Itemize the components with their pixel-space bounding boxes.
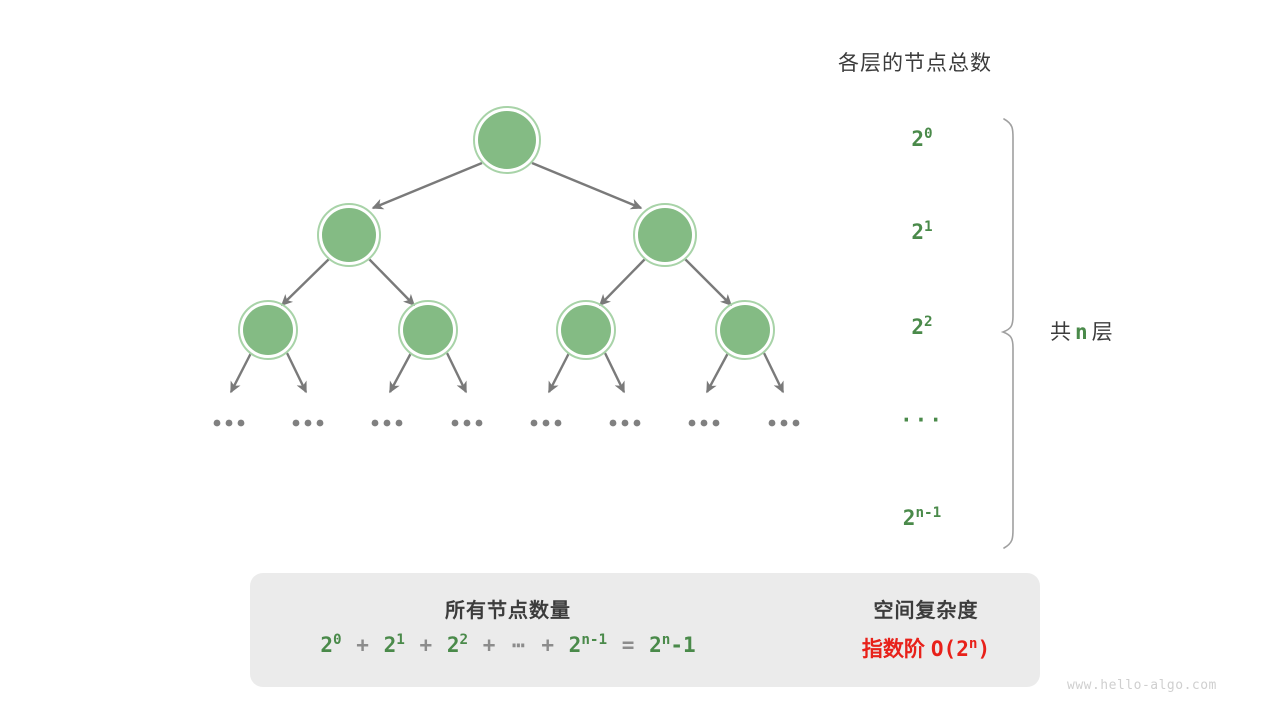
formula-term-8-exp: n-1 [581,632,607,648]
total-levels-suffix: 层 [1092,321,1114,344]
total-levels-prefix: 共 [1050,321,1072,344]
summary-right-title: 空间复杂度 [826,594,1026,623]
diagram-canvas: 各层的节点总数 20 21 22 ··· 2n-1 共n层 所有节点数量 20 … [0,0,1280,720]
tree-nodes [239,107,774,359]
level-label-2: 22 [862,315,982,339]
formula-term-10: 2n-1 [649,633,696,657]
summary-right-value: 指数阶O(2n) [826,633,1026,663]
level-label-1-base: 2 [911,220,924,244]
edge-l3a-left [231,353,251,392]
ellipsis-group [531,420,562,427]
formula-term-4-base: 2 [447,633,460,657]
level-label-0-exp: 0 [924,126,933,142]
edge-l2a-right [369,259,414,305]
formula-term-4-exp: 2 [459,632,468,648]
complexity-expression: O(2n) [925,637,990,661]
summary-left-title: 所有节点数量 [250,594,766,623]
total-levels-variable: n [1072,320,1092,344]
edge-l3b-right [447,353,466,392]
formula-op-3: + [418,633,435,657]
summary-formula: 20 + 21 + 22 + ⋯ + 2n-1 = 2n-1 [250,633,766,657]
formula-term-10-base: 2 [649,633,662,657]
formula-term-2-exp: 1 [396,632,405,648]
edge-l3c-left [549,353,569,392]
tree-node-l3-4 [716,301,774,359]
edge-l3d-right [764,353,783,392]
formula-term-2: 21 [384,633,405,657]
formula-op-5: + [481,633,498,657]
level-label-1: 21 [862,220,982,244]
level-label-last-exp: n-1 [915,505,941,521]
level-label-1-exp: 1 [924,219,933,235]
tree-ellipsis-row [214,420,800,427]
level-label-ellipsis: ··· [862,408,982,432]
level-label-last-base: 2 [903,506,916,530]
formula-term-2-base: 2 [384,633,397,657]
complexity-expr-close: ) [977,637,990,661]
complexity-label: 指数阶 [862,638,925,661]
summary-box [250,573,1040,687]
edge-l3c-right [605,353,624,392]
watermark: www.hello-algo.com [1067,678,1217,693]
ellipsis-group [769,420,800,427]
levels-panel-title: 各层的节点总数 [838,47,992,77]
total-levels-label: 共n层 [1050,316,1114,346]
level-label-0: 20 [862,127,982,151]
ellipsis-group [293,420,324,427]
tree-node-root [474,107,540,173]
edge-l3b-left [390,353,411,392]
formula-term-4: 22 [447,633,468,657]
tree-node-l3-1 [239,301,297,359]
level-label-0-base: 2 [911,127,924,151]
formula-op-1: + [354,633,371,657]
formula-equals: = [620,633,637,657]
tree-node-l3-3 [557,301,615,359]
tree-node-l2-2 [634,204,696,266]
tree-edges [231,163,783,392]
tree-node-l3-2 [399,301,457,359]
level-label-last: 2n-1 [862,506,982,530]
edge-l2a-left [282,259,329,305]
formula-term-10-tail: -1 [670,633,695,657]
formula-term-8: 2n-1 [569,633,607,657]
edge-l3d-left [707,353,728,392]
edge-root-right [532,163,641,208]
formula-term-0-base: 2 [320,633,333,657]
edge-l2b-right [685,259,731,305]
ellipsis-group [372,420,403,427]
formula-ellipsis: ⋯ [510,633,527,657]
formula-term-0: 20 [320,633,341,657]
levels-brace [1003,119,1013,548]
formula-op-7: + [539,633,556,657]
edge-l3a-right [287,353,306,392]
ellipsis-group [689,420,720,427]
ellipsis-group [214,420,245,427]
edge-l2b-left [600,259,645,305]
level-label-2-exp: 2 [924,314,933,330]
ellipsis-group [452,420,483,427]
tree-node-l2-1 [318,204,380,266]
formula-term-0-exp: 0 [333,632,342,648]
ellipsis-group [610,420,641,427]
level-label-2-base: 2 [911,315,924,339]
formula-term-8-base: 2 [569,633,582,657]
edge-root-left [373,163,482,208]
complexity-expr-open: O(2 [931,637,969,661]
